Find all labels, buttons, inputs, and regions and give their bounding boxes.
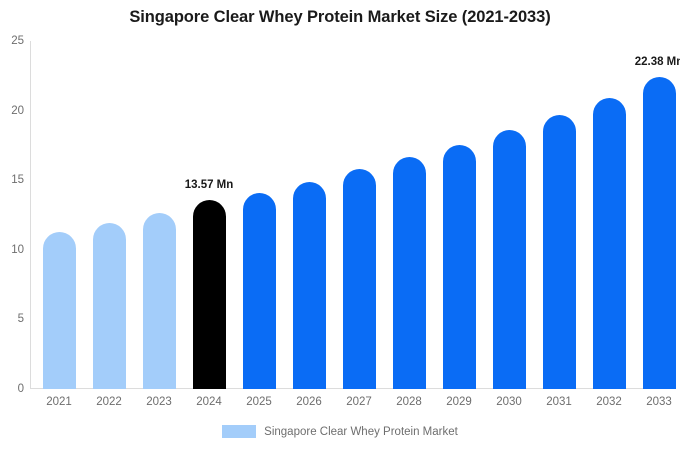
y-axis-tick-25: 25 [0, 35, 24, 47]
x-axis-tick-2029: 2029 [434, 396, 484, 408]
y-axis-tick-5: 5 [0, 313, 24, 325]
x-axis-tick-2032: 2032 [584, 396, 634, 408]
x-axis-tick-2027: 2027 [334, 396, 384, 408]
bar-slot [434, 41, 484, 389]
bar-slot: 13.57 Mn [184, 41, 234, 389]
x-axis-tick-2028: 2028 [384, 396, 434, 408]
plot-area: 13.57 Mn22.38 Mn [30, 41, 680, 389]
y-axis-tick-10: 10 [0, 244, 24, 256]
x-axis-tick-2033: 2033 [634, 396, 680, 408]
x-axis-tick-2025: 2025 [234, 396, 284, 408]
y-axis-tick-0: 0 [0, 383, 24, 395]
bar-slot [584, 41, 634, 389]
x-axis-tick-2024: 2024 [184, 396, 234, 408]
bar-slot [34, 41, 84, 389]
bar-2026[interactable] [293, 182, 326, 389]
bar-2022[interactable] [93, 223, 126, 389]
bar-2025[interactable] [243, 193, 276, 389]
bar-slot [234, 41, 284, 389]
bar-slot [384, 41, 434, 389]
x-axis-tick-2030: 2030 [484, 396, 534, 408]
bar-2028[interactable] [393, 157, 426, 389]
bar-2030[interactable] [493, 130, 526, 389]
bar-2021[interactable] [43, 232, 76, 389]
bar-slot: 22.38 Mn [634, 41, 680, 389]
bar-value-label-2033: 22.38 Mn [635, 56, 680, 68]
bar-2033[interactable] [643, 77, 676, 389]
bar-slot [484, 41, 534, 389]
bar-chart: Singapore Clear Whey Protein Market Size… [0, 0, 680, 450]
bar-slot [134, 41, 184, 389]
bar-2027[interactable] [343, 169, 376, 389]
x-axis-tick-2023: 2023 [134, 396, 184, 408]
legend-swatch-icon [222, 425, 256, 438]
bar-series: 13.57 Mn22.38 Mn [30, 41, 680, 389]
bar-slot [284, 41, 334, 389]
chart-legend: Singapore Clear Whey Protein Market [0, 425, 680, 438]
x-axis-tick-2031: 2031 [534, 396, 584, 408]
bar-2029[interactable] [443, 145, 476, 389]
x-axis-tick-2021: 2021 [34, 396, 84, 408]
bar-2023[interactable] [143, 213, 176, 389]
chart-title: Singapore Clear Whey Protein Market Size… [0, 8, 680, 27]
y-axis-tick-20: 20 [0, 105, 24, 117]
x-axis-tick-labels: 2021202220232024202520262027202820292030… [30, 396, 680, 416]
bar-slot [534, 41, 584, 389]
y-axis-tick-labels: 0510152025 [0, 41, 24, 389]
x-axis-tick-2026: 2026 [284, 396, 334, 408]
bar-slot [84, 41, 134, 389]
x-axis-tick-2022: 2022 [84, 396, 134, 408]
y-axis-tick-15: 15 [0, 174, 24, 186]
legend-label: Singapore Clear Whey Protein Market [264, 426, 458, 438]
bar-value-label-2024: 13.57 Mn [185, 179, 234, 191]
bar-slot [334, 41, 384, 389]
bar-2024[interactable] [193, 200, 226, 389]
bar-2032[interactable] [593, 98, 626, 389]
bar-2031[interactable] [543, 115, 576, 389]
